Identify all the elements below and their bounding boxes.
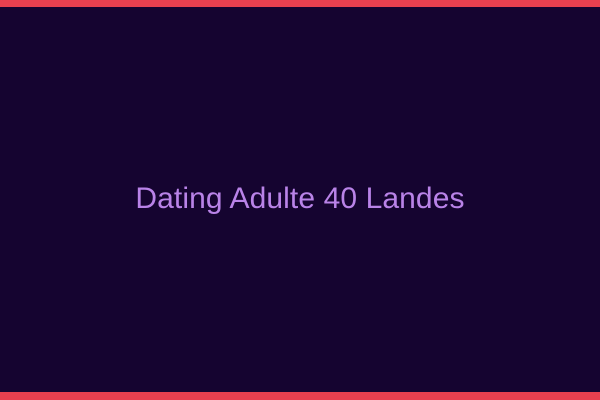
placeholder-banner: Dating Adulte 40 Landes [0, 0, 600, 400]
bottom-accent-rule [0, 392, 600, 400]
caption-container: Dating Adulte 40 Landes [0, 0, 600, 400]
banner-caption: Dating Adulte 40 Landes [135, 182, 464, 215]
top-accent-rule [0, 0, 600, 7]
